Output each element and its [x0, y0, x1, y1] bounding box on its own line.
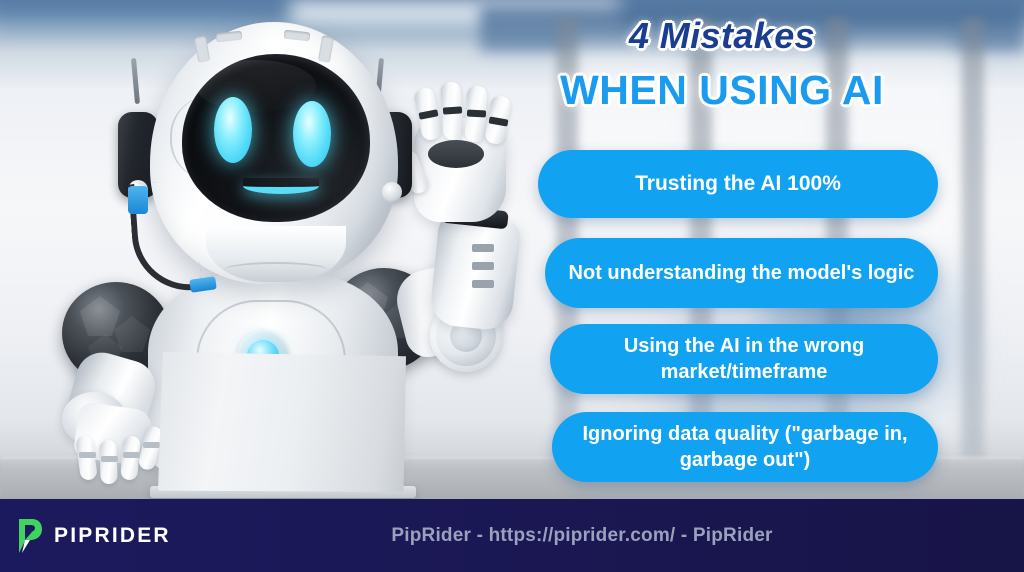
mistake-list: Trusting the AI 100% Not understanding t…: [0, 0, 1024, 505]
mistake-item-1[interactable]: Trusting the AI 100%: [538, 150, 938, 218]
mistake-item-3-label: Using the AI in the wrong market/timefra…: [568, 333, 920, 385]
mistake-item-2-label: Not understanding the model's logic: [563, 260, 920, 286]
footer-bar: PIPRIDER PipRider - https://piprider.com…: [0, 499, 1024, 572]
mistake-item-3[interactable]: Using the AI in the wrong market/timefra…: [550, 324, 938, 394]
mistake-item-4[interactable]: Ignoring data quality ("garbage in, garb…: [552, 412, 938, 482]
mistake-item-1-label: Trusting the AI 100%: [556, 172, 920, 196]
piprider-logo-icon: [14, 516, 44, 556]
brand-logo[interactable]: PIPRIDER: [14, 516, 171, 556]
mistake-item-4-label: Ignoring data quality ("garbage in, garb…: [570, 421, 920, 473]
poster-canvas: 4 Mistakes WHEN USING AI Trusting the AI…: [0, 0, 1024, 572]
mistake-item-2[interactable]: Not understanding the model's logic: [545, 238, 938, 308]
brand-name: PIPRIDER: [54, 524, 171, 548]
